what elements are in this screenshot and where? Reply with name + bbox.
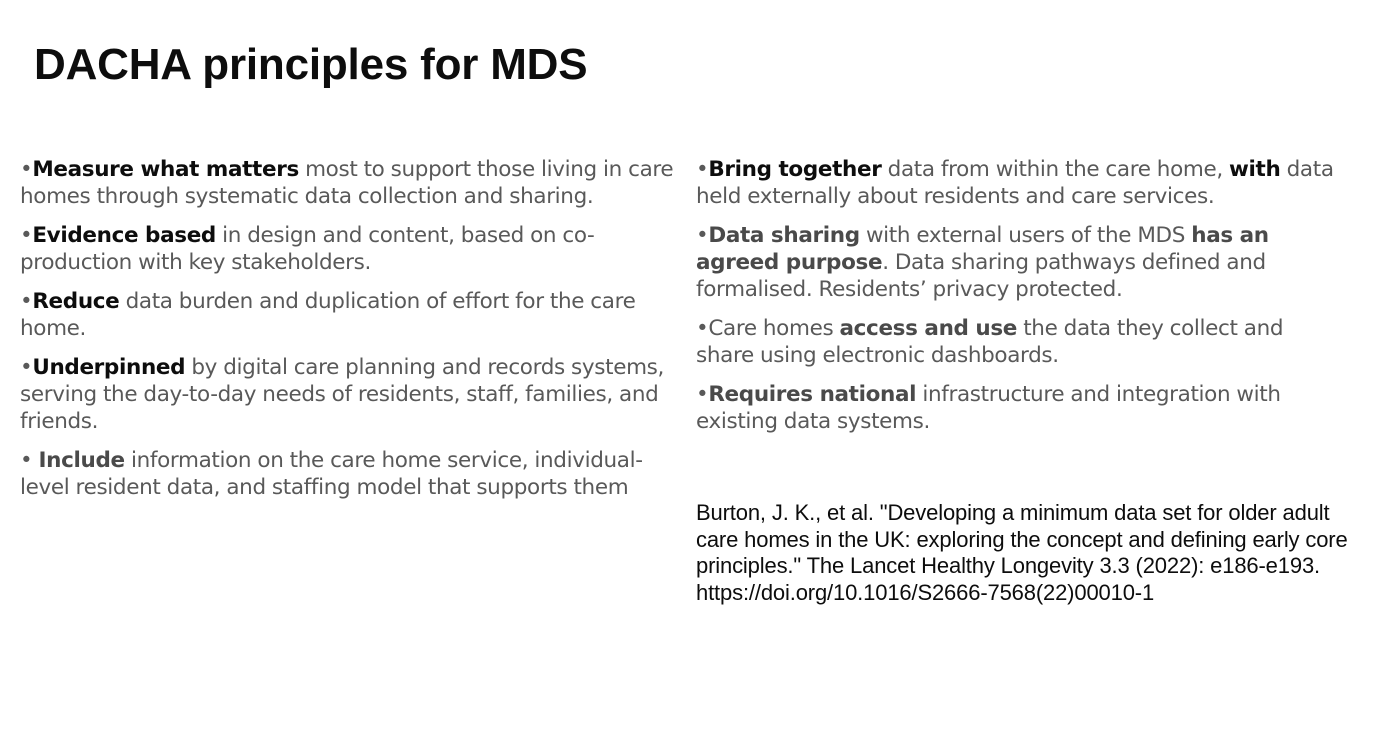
bullet-marker: • [696, 316, 708, 341]
bullet-lead-emphasis: Measure what matters [32, 157, 299, 182]
bullet-marker: • [696, 382, 708, 407]
bullet-marker: • [20, 448, 39, 473]
bullet-secondary-emphasis: access and use [840, 316, 1018, 341]
bullet-marker: • [696, 223, 708, 248]
citation-reference: Burton, J. K., et al. "Developing a mini… [696, 500, 1356, 606]
bullet-marker: • [20, 223, 32, 248]
bullet-secondary-emphasis: with [1229, 157, 1280, 182]
page-title: DACHA principles for MDS [34, 38, 1034, 92]
bullet-lead-emphasis: Requires national [708, 382, 916, 407]
bullet-body-text: data from within the care home, [881, 157, 1229, 182]
bullet-underpinned: •Underpinned by digital care planning an… [20, 354, 680, 435]
bullet-marker: • [20, 355, 32, 380]
bullet-data-sharing: •Data sharing with external users of the… [696, 222, 1346, 303]
bullet-lead-emphasis: Reduce [32, 289, 119, 314]
bullet-lead-emphasis: Bring together [708, 157, 881, 182]
bullet-lead-emphasis: Evidence based [32, 223, 216, 248]
bullet-requires-national: •Requires national infrastructure and in… [696, 381, 1346, 435]
bullet-lead-emphasis: Data sharing [708, 223, 859, 248]
bullet-evidence-based: •Evidence based in design and content, b… [20, 222, 680, 276]
right-bullet-column: •Bring together data from within the car… [696, 156, 1346, 435]
bullet-marker: • [20, 289, 32, 314]
bullet-lead-emphasis: Underpinned [32, 355, 185, 380]
bullet-include: • Include information on the care home s… [20, 447, 680, 501]
slide-canvas: DACHA principles for MDS •Measure what m… [0, 0, 1390, 731]
bullet-body-text: Care homes [708, 316, 839, 341]
bullet-reduce: •Reduce data burden and duplication of e… [20, 288, 680, 342]
bullet-marker: • [696, 157, 708, 182]
bullet-bring-together: •Bring together data from within the car… [696, 156, 1346, 210]
bullet-measure-what-matters: •Measure what matters most to support th… [20, 156, 680, 210]
left-bullet-column: •Measure what matters most to support th… [20, 156, 680, 501]
bullet-body-text: with external users of the MDS [860, 223, 1191, 248]
bullet-marker: • [20, 157, 32, 182]
bullet-care-homes-access: •Care homes access and use the data they… [696, 315, 1346, 369]
bullet-lead-emphasis: Include [39, 448, 125, 473]
